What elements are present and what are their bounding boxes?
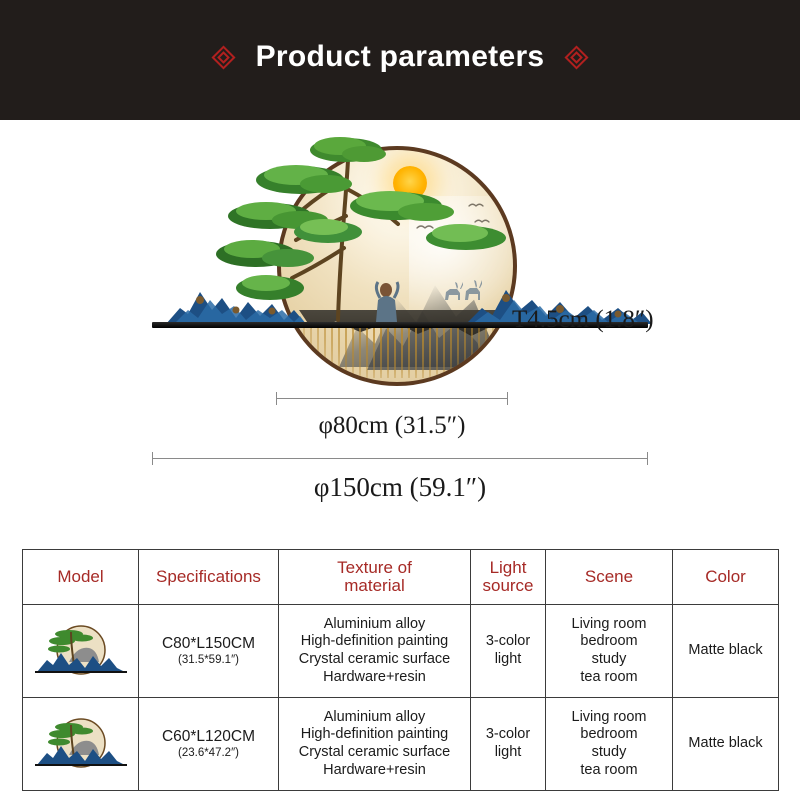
cell-model-thumbnail [23,698,139,791]
cell-color: Matte black [673,605,779,698]
circle-diameter-label: φ80cm (31.5″) [276,412,508,440]
total-width-label: φ150cm (59.1″) [152,472,648,503]
specification-main: C60*L120CM [141,728,276,747]
texture-line2: High-definition painting [281,726,468,744]
texture-line1: Aluminium alloy [281,709,468,727]
dimension-line-80 [276,392,508,406]
birds-icon [413,198,505,258]
cell-texture: Aluminium alloy High-definition painting… [279,605,471,698]
cell-specification: C60*L120CM (23.6*47.2″) [139,698,279,791]
page-title: Product parameters [256,40,545,74]
scene-line2: bedroom [548,633,670,651]
scene-line1: Living room [548,709,670,727]
texture-line1: Aluminium alloy [281,616,468,634]
header-model: Model [23,550,139,605]
scene-line2: bedroom [548,726,670,744]
scene-line1: Living room [548,616,670,634]
header-texture: Texture of material [279,550,471,605]
cell-model-thumbnail [23,605,139,698]
spec-table-container: Model Specifications Texture of material… [22,549,778,791]
header-texture-line1: Texture of [281,559,468,577]
light-line2: light [473,744,543,762]
dimension-line-150 [152,452,648,466]
product-thumbnail [35,713,127,775]
scene-line3: study [548,744,670,762]
cell-scene: Living room bedroom study tea room [546,698,673,791]
total-width-dimension: φ150cm (59.1″) [152,452,648,503]
texture-line2: High-definition painting [281,633,468,651]
cell-light-source: 3-color light [471,605,546,698]
specification-main: C80*L150CM [141,635,276,654]
texture-line4: Hardware+resin [281,762,468,780]
cell-specification: C80*L150CM (31.5*59.1″) [139,605,279,698]
header-specifications: Specifications [139,550,279,605]
diamond-ornament-left-icon [214,47,234,67]
table-row: C60*L120CM (23.6*47.2″) Aluminium alloy … [23,698,779,791]
header-scene: Scene [546,550,673,605]
diamond-ornament-right-icon [566,47,586,67]
circular-artwork [277,146,517,386]
specification-sub: (23.6*47.2″) [141,746,276,760]
light-line1: 3-color [473,726,543,744]
sun-icon [393,166,427,200]
scene-line4: tea room [548,762,670,780]
light-line2: light [473,651,543,669]
blue-mountain-left [166,280,306,324]
golden-ray-fringe [303,326,499,378]
header-texture-line2: material [281,577,468,595]
header-light-line2: source [473,577,543,595]
product-thumbnail [35,620,127,682]
header-light-line1: Light [473,559,543,577]
texture-line3: Crystal ceramic surface [281,651,468,669]
page-header: Product parameters [0,0,800,120]
thickness-label: T4.5cm (1.8″) [512,306,654,334]
table-header-row: Model Specifications Texture of material… [23,550,779,605]
texture-line3: Crystal ceramic surface [281,744,468,762]
cell-color: Matte black [673,698,779,791]
table-row: C80*L150CM (31.5*59.1″) Aluminium alloy … [23,605,779,698]
cell-light-source: 3-color light [471,698,546,791]
texture-line4: Hardware+resin [281,669,468,687]
circle-diameter-dimension: φ80cm (31.5″) [276,392,508,440]
light-line1: 3-color [473,633,543,651]
scene-line4: tea room [548,669,670,687]
header-light-source: Light source [471,550,546,605]
header-color: Color [673,550,779,605]
cell-scene: Living room bedroom study tea room [546,605,673,698]
specification-sub: (31.5*59.1″) [141,653,276,667]
cell-texture: Aluminium alloy High-definition painting… [279,698,471,791]
product-illustration: T4.5cm (1.8″) φ80cm (31.5″) φ150cm (59.1… [0,120,800,520]
spec-table: Model Specifications Texture of material… [22,549,779,791]
scene-line3: study [548,651,670,669]
